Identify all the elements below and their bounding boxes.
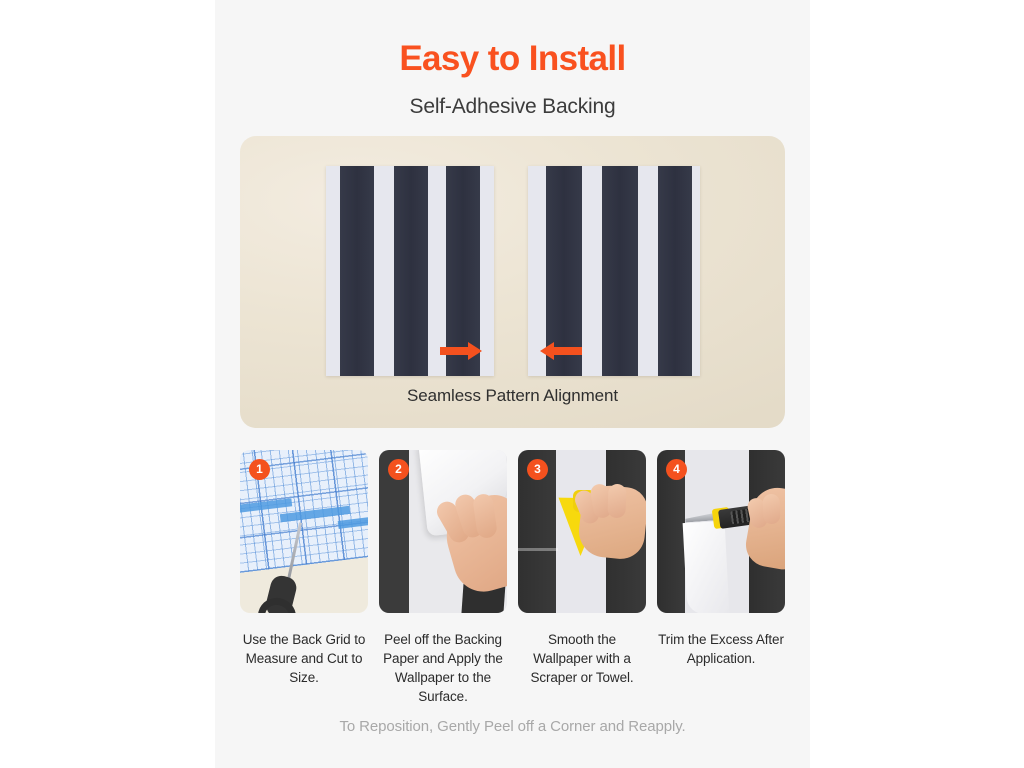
step-card-4: 4 Trim the Excess After Application. <box>657 450 785 706</box>
step-badge: 4 <box>666 459 687 480</box>
stripe <box>658 166 692 376</box>
step-badge: 2 <box>388 459 409 480</box>
step-caption-4: Trim the Excess After Application. <box>657 630 785 668</box>
page-header: Easy to Install Self-Adhesive Backing <box>215 36 810 122</box>
stripe <box>394 166 428 376</box>
step-caption-1: Use the Back Grid to Measure and Cut to … <box>240 630 368 687</box>
hero-illustration <box>240 136 785 428</box>
step-image-3: 3 <box>518 450 646 613</box>
step-card-3: 3 Smooth the Wallpaper with a Scraper or… <box>518 450 646 706</box>
step-badge: 1 <box>249 459 270 480</box>
hero-caption: Seamless Pattern Alignment <box>240 386 785 406</box>
arrow-shaft <box>440 347 470 355</box>
stripe <box>602 166 638 376</box>
stripe <box>340 166 374 376</box>
content-column: Easy to Install Self-Adhesive Backing <box>215 0 810 768</box>
page-subtitle: Self-Adhesive Backing <box>215 92 810 122</box>
footer-note: To Reposition, Gently Peel off a Corner … <box>215 718 810 735</box>
arrow-shaft <box>552 347 582 355</box>
step-image-1: 1 <box>240 450 368 613</box>
finger <box>607 484 626 519</box>
arrow-head <box>540 342 554 360</box>
steps-row: 1 Use the Back Grid to Measure and Cut t… <box>240 450 787 706</box>
step-caption-2: Peel off the Backing Paper and Apply the… <box>379 630 507 706</box>
promo-page: Easy to Install Self-Adhesive Backing <box>0 0 1024 768</box>
finger <box>762 494 780 525</box>
step-badge: 3 <box>527 459 548 480</box>
seam-line <box>518 548 558 551</box>
step-card-2: 2 Peel off the Backing Paper and Apply t… <box>379 450 507 706</box>
step-image-4: 4 <box>657 450 785 613</box>
arrow-right-icon <box>440 345 482 356</box>
step-caption-3: Smooth the Wallpaper with a Scraper or T… <box>518 630 646 687</box>
step-image-2: 2 <box>379 450 507 613</box>
wallpaper-edge <box>683 521 730 613</box>
arrow-head <box>468 342 482 360</box>
step-card-1: 1 Use the Back Grid to Measure and Cut t… <box>240 450 368 706</box>
arrow-left-icon <box>540 345 582 356</box>
hero-panel: Seamless Pattern Alignment <box>240 136 785 428</box>
page-title: Easy to Install <box>215 36 810 82</box>
